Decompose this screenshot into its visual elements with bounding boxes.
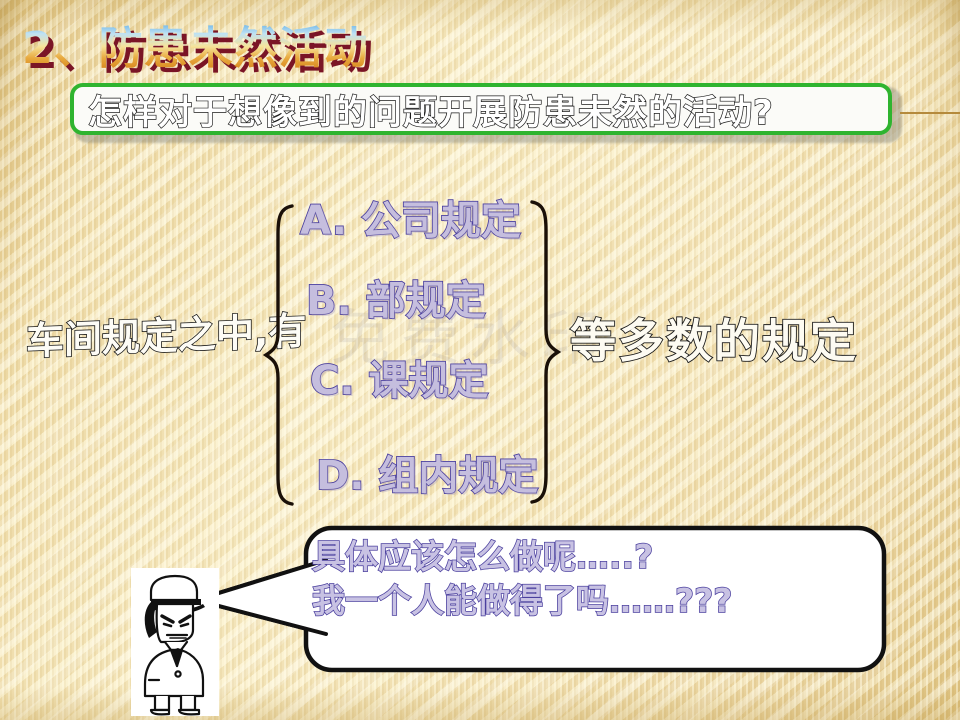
speech-line-1: 具体应该怎么做呢…..? <box>312 535 872 579</box>
option-item-d: D. 组内规定 <box>316 443 538 501</box>
option-item-b: B. 部规定 <box>306 268 486 326</box>
option-key-c: C. <box>310 358 355 404</box>
question-box: 怎样对于想像到的问题开展防患未然的活动? <box>70 83 892 135</box>
option-label-a: 公司规定 <box>361 198 521 244</box>
option-item-c: C. 课规定 <box>310 348 489 406</box>
trailing-text: 等多数的规定 <box>570 305 858 371</box>
question-text: 怎样对于想像到的问题开展防患未然的活动? <box>88 85 774 134</box>
slide-canvas: 免费水印 2、防患未然活动 2、防患未然活动 怎样对于想像到的问题开展防患未然的… <box>0 0 960 720</box>
option-label-b: 部规定 <box>366 278 486 324</box>
header-rule <box>900 112 960 114</box>
option-label-d: 组内规定 <box>378 453 538 499</box>
option-label-c: 课规定 <box>369 358 489 404</box>
option-key-a: A. <box>300 198 347 244</box>
page-title-text: 2、防患未然活动 <box>22 12 369 76</box>
lead-in-text: 车间规定之中,有 <box>26 300 306 366</box>
speech-line-2: 我一个人能做得了吗……??? <box>312 579 872 623</box>
character-illustration <box>131 568 219 716</box>
option-key-d: D. <box>316 453 364 499</box>
options-list: A. 公司规定 B. 部规定 C. 课规定 D. 组内规定 <box>296 188 536 508</box>
factory-worker-cartoon-icon <box>131 568 219 716</box>
speech-bubble-text: 具体应该怎么做呢…..? 我一个人能做得了吗……??? <box>312 535 872 623</box>
option-item-a: A. 公司规定 <box>300 188 521 246</box>
option-key-b: B. <box>306 278 352 324</box>
